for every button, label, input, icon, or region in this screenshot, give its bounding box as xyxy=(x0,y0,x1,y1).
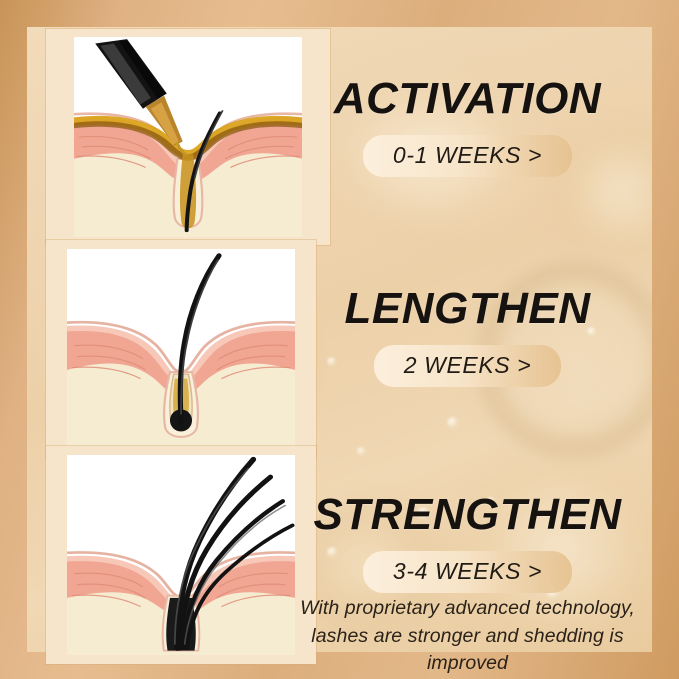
caption-line-2: lashes are stronger and shedding is impr… xyxy=(285,623,650,678)
step-activation: ACTIVATION 0-1 WEEKS > xyxy=(285,77,650,177)
multiple-lashes-illustration xyxy=(67,455,295,655)
step-title-activation: ACTIVATION xyxy=(285,77,650,121)
illustration-card-column xyxy=(46,29,274,650)
caption-line-1: With proprietary advanced technology, xyxy=(285,595,650,623)
follicle-serum-application-illustration xyxy=(74,37,302,237)
illustration-card-strengthen xyxy=(46,446,316,664)
step-title-lengthen: LENGTHEN xyxy=(285,287,650,331)
step-strengthen: STRENGTHEN 3-4 WEEKS > xyxy=(285,493,650,593)
step-duration-strengthen[interactable]: 3-4 WEEKS > xyxy=(363,551,572,593)
illustration-card-lengthen xyxy=(46,240,316,458)
step-duration-lengthen[interactable]: 2 WEEKS > xyxy=(374,345,561,387)
step-lengthen: LENGTHEN 2 WEEKS > xyxy=(285,287,650,387)
footer-caption: With proprietary advanced technology, la… xyxy=(285,595,650,678)
step-duration-activation[interactable]: 0-1 WEEKS > xyxy=(363,135,572,177)
step-title-strengthen: STRENGTHEN xyxy=(285,493,650,537)
steps-text-column: ACTIVATION 0-1 WEEKS > LENGTHEN 2 WEEKS … xyxy=(285,29,650,650)
lash-serum-timeline-infographic: ACTIVATION 0-1 WEEKS > LENGTHEN 2 WEEKS … xyxy=(0,0,679,679)
single-lash-growth-illustration xyxy=(67,249,295,449)
